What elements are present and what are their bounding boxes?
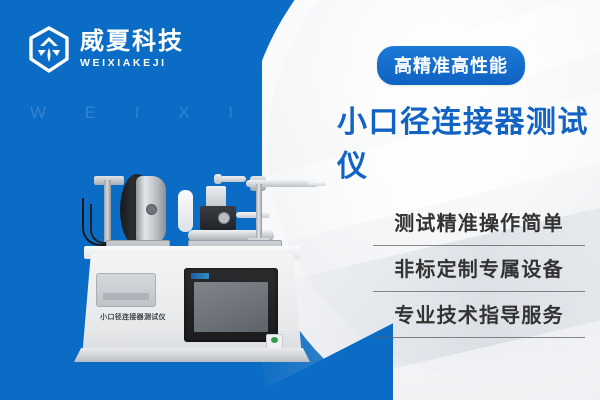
machine-access-panel <box>96 273 156 307</box>
screen-display-area <box>194 282 268 332</box>
feature-divider-3 <box>373 337 585 338</box>
certification-badge-icon <box>266 334 283 349</box>
promo-banner: 威夏科技 WEIXIAKEJI W E I X I A K E 高精准高性能 小… <box>0 0 600 400</box>
wire-cable-inner <box>90 204 118 244</box>
feature-item-3: 专业技术指导服务 <box>373 292 585 337</box>
feature-divider-2 <box>373 291 585 292</box>
brand-text: 威夏科技 WEIXIAKEJI <box>80 30 184 69</box>
brand-name-cn: 威夏科技 <box>80 30 184 54</box>
clamp-vertical-post <box>256 184 262 242</box>
machine-base <box>74 348 310 362</box>
fixture-knob <box>218 212 230 224</box>
promo-badge: 高精准高性能 <box>377 46 525 85</box>
clamp-handle <box>220 176 246 182</box>
screen-brand-tag <box>191 273 209 279</box>
fixture-paddle <box>178 190 193 232</box>
page-title: 小口径连接器测试仪 <box>337 97 600 185</box>
brand-name-en: WEIXIAKEJI <box>80 58 184 69</box>
brand-logo: 威夏科技 WEIXIAKEJI <box>27 26 184 73</box>
machine-front-label: 小口径连接器测试仪 <box>78 312 188 322</box>
feature-item-1: 测试精准操作简单 <box>373 200 585 245</box>
feature-list: 测试精准操作简单 非标定制专属设备 专业技术指导服务 <box>373 200 585 338</box>
fixture-head <box>206 186 226 208</box>
hexagon-shield-icon <box>27 26 71 73</box>
wheel-hub <box>146 204 157 215</box>
hmi-touchscreen <box>184 268 278 342</box>
product-image: 小口径连接器测试仪 <box>60 168 325 380</box>
fixture-rod <box>236 212 270 218</box>
feature-item-2: 非标定制专属设备 <box>373 246 585 291</box>
clamp-tip <box>308 181 326 186</box>
feature-divider-1 <box>373 245 585 246</box>
